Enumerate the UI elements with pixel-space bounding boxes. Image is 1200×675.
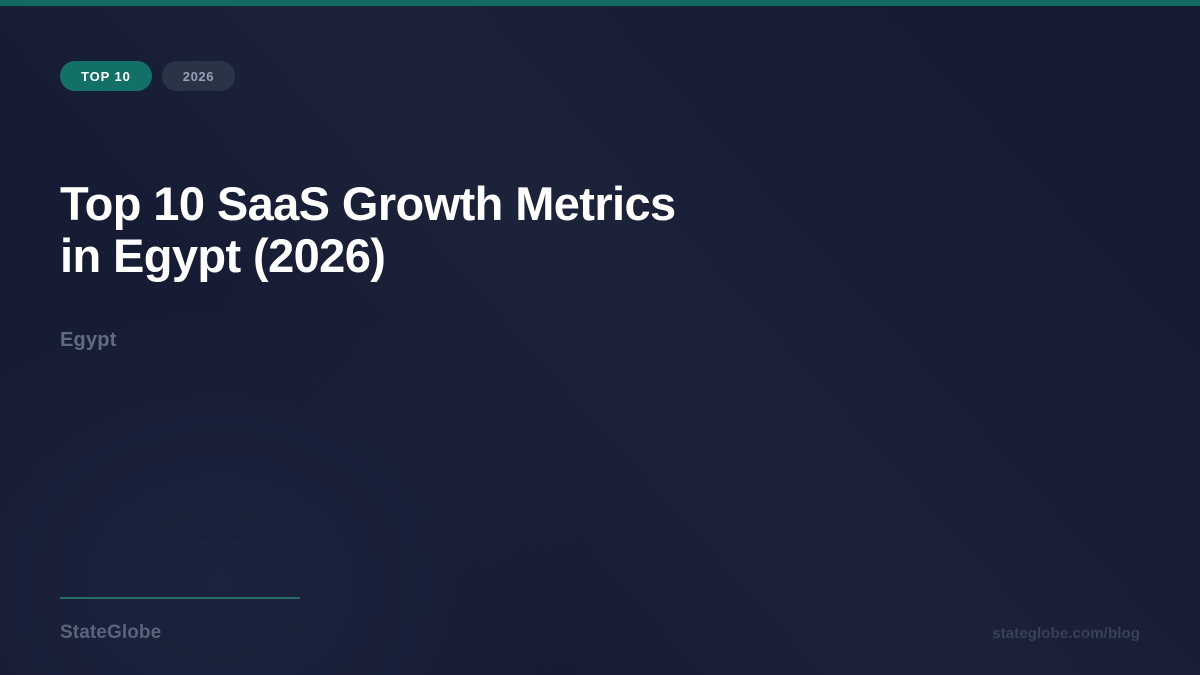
badge-row: TOP 10 2026 (60, 61, 235, 91)
badge-top-10[interactable]: TOP 10 (60, 61, 152, 91)
page-title: Top 10 SaaS Growth Metrics in Egypt (202… (60, 178, 780, 282)
page-subtitle: Egypt (60, 329, 117, 352)
footer-divider (60, 597, 300, 599)
footer-brand-name: StateGlobe (60, 622, 161, 644)
title-card-slide: TOP 10 2026 Top 10 SaaS Growth Metrics i… (0, 0, 1200, 675)
page-title-line-1: Top 10 SaaS Growth Metrics (60, 178, 780, 230)
top-accent-bar (0, 0, 1200, 6)
background-gradient-wash (0, 0, 1200, 675)
badge-year[interactable]: 2026 (162, 61, 235, 91)
page-title-line-2: in Egypt (2026) (60, 230, 780, 282)
footer-url: stateglobe.com/blog (992, 625, 1140, 642)
